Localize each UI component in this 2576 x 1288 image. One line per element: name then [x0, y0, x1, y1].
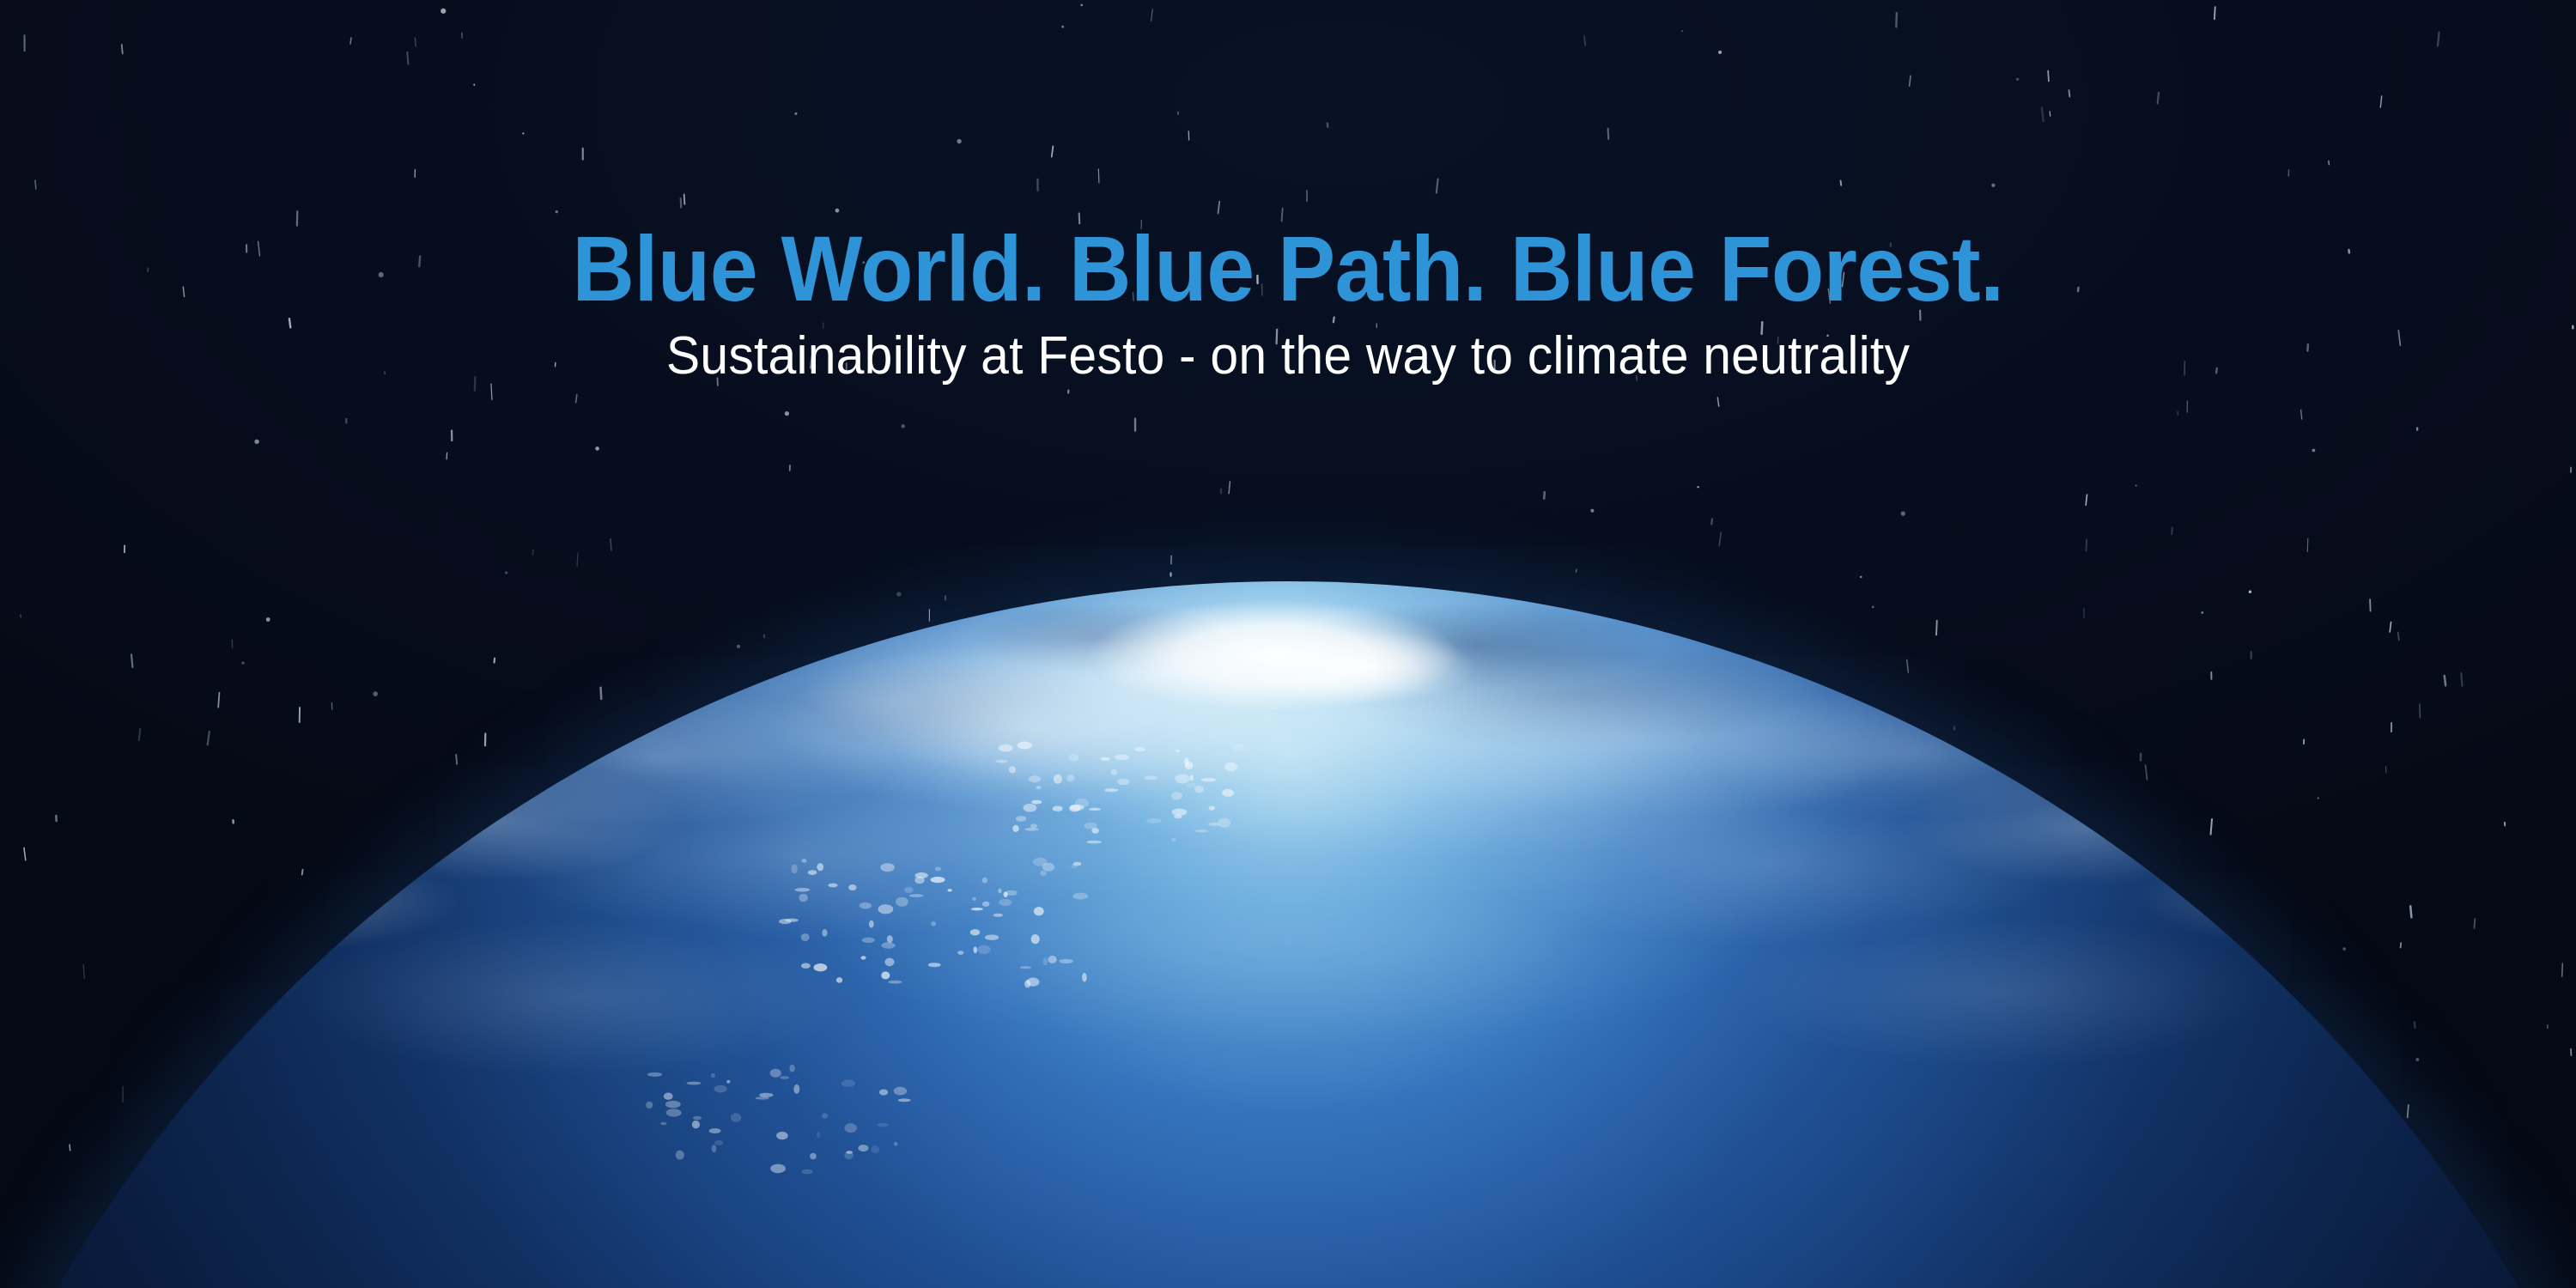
- sustainability-banner: Blue World. Blue Path. Blue Forest. Sust…: [0, 0, 2576, 1288]
- banner-text-block: Blue World. Blue Path. Blue Forest. Sust…: [0, 222, 2576, 384]
- page-title: Blue World. Blue Path. Blue Forest.: [90, 222, 2486, 316]
- space-background: [0, 0, 2576, 1288]
- page-subtitle: Sustainability at Festo - on the way to …: [64, 328, 2512, 384]
